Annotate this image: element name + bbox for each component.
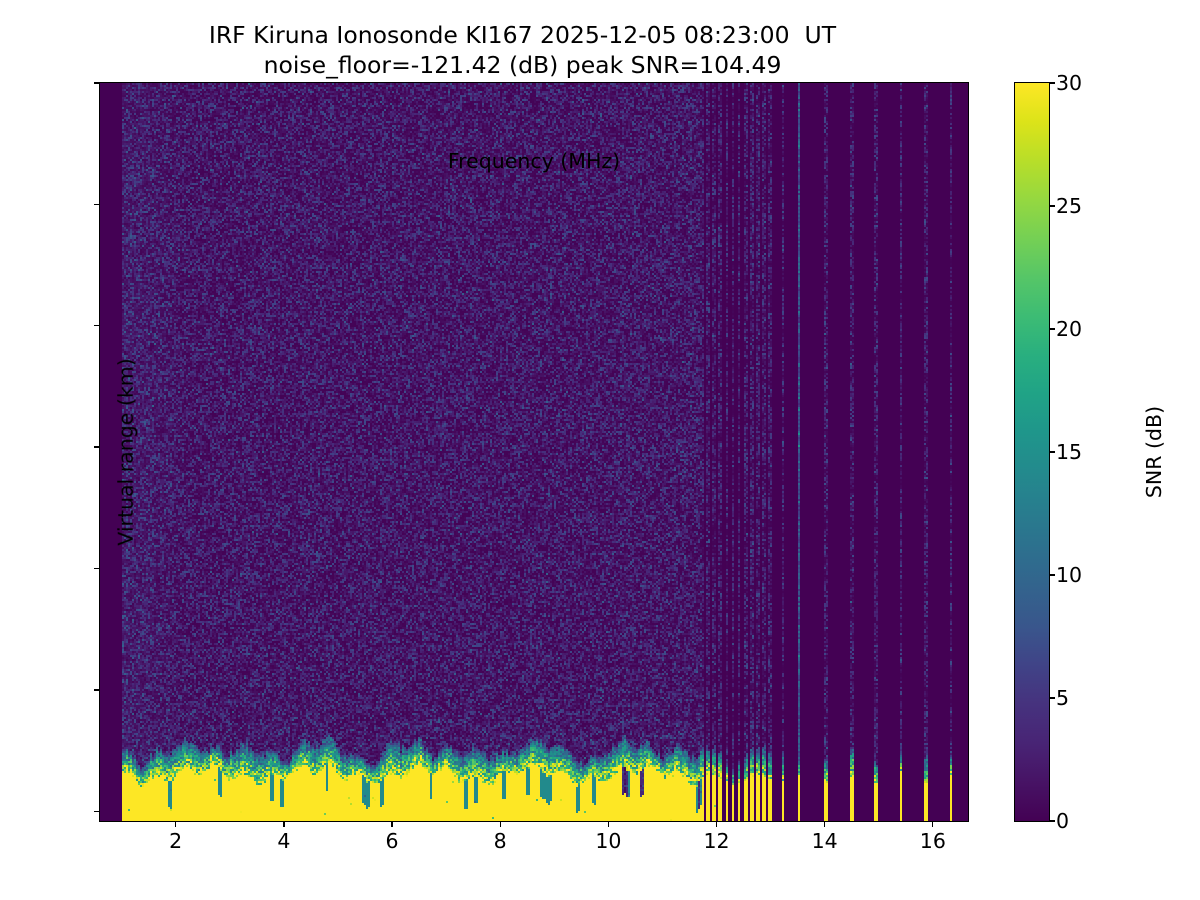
y-tick-mark — [94, 689, 100, 690]
x-tick-label: 4 — [277, 829, 290, 853]
colorbar-tick-label: 15 — [1056, 440, 1082, 464]
colorbar-tick-mark — [1049, 574, 1055, 575]
ionogram-axes: 0100200300400500600 246810121416 Virtual… — [99, 82, 969, 822]
colorbar-tick-mark — [1049, 205, 1055, 206]
x-tick-label: 16 — [920, 829, 946, 853]
colorbar-tick-mark — [1049, 82, 1055, 83]
colorbar-tick-mark — [1049, 328, 1055, 329]
x-tick-mark — [716, 821, 717, 827]
colorbar-tick-mark — [1049, 820, 1055, 821]
y-tick-mark — [94, 82, 100, 83]
x-axis-label: Frequency (MHz) — [100, 149, 968, 173]
x-tick-label: 8 — [494, 829, 507, 853]
y-axis-label: Virtual range (km) — [114, 358, 138, 545]
x-tick-label: 14 — [812, 829, 838, 853]
colorbar-tick-label: 30 — [1056, 71, 1082, 95]
y-tick-mark — [94, 325, 100, 326]
colorbar: 051015202530 SNR (dB) — [1014, 82, 1050, 822]
x-tick-label: 10 — [595, 829, 621, 853]
colorbar-tick-label: 5 — [1056, 686, 1069, 710]
y-tick-mark — [94, 568, 100, 569]
x-tick-mark — [175, 821, 176, 827]
figure-title: IRF Kiruna Ionosonde KI167 2025-12-05 08… — [0, 20, 1045, 80]
title-line-1: IRF Kiruna Ionosonde KI167 2025-12-05 08… — [0, 20, 1045, 50]
y-tick-mark — [94, 446, 100, 447]
x-tick-label: 6 — [386, 829, 399, 853]
colorbar-label: SNR (dB) — [1142, 406, 1166, 498]
x-tick-label: 12 — [703, 829, 729, 853]
colorbar-tick-label: 0 — [1056, 809, 1069, 833]
ionogram-heatmap — [100, 83, 968, 821]
x-tick-mark — [391, 821, 392, 827]
x-tick-mark — [824, 821, 825, 827]
x-tick-mark — [500, 821, 501, 827]
colorbar-gradient — [1015, 83, 1049, 821]
x-tick-label: 2 — [169, 829, 182, 853]
colorbar-tick-label: 20 — [1056, 317, 1082, 341]
y-tick-mark — [94, 204, 100, 205]
colorbar-tick-mark — [1049, 697, 1055, 698]
x-tick-mark — [608, 821, 609, 827]
figure-canvas: IRF Kiruna Ionosonde KI167 2025-12-05 08… — [0, 0, 1200, 900]
x-tick-mark — [932, 821, 933, 827]
title-line-2: noise_floor=-121.42 (dB) peak SNR=104.49 — [0, 50, 1045, 80]
colorbar-tick-mark — [1049, 451, 1055, 452]
colorbar-tick-label: 10 — [1056, 563, 1082, 587]
y-tick-mark — [94, 811, 100, 812]
colorbar-tick-label: 25 — [1056, 194, 1082, 218]
x-tick-mark — [283, 821, 284, 827]
